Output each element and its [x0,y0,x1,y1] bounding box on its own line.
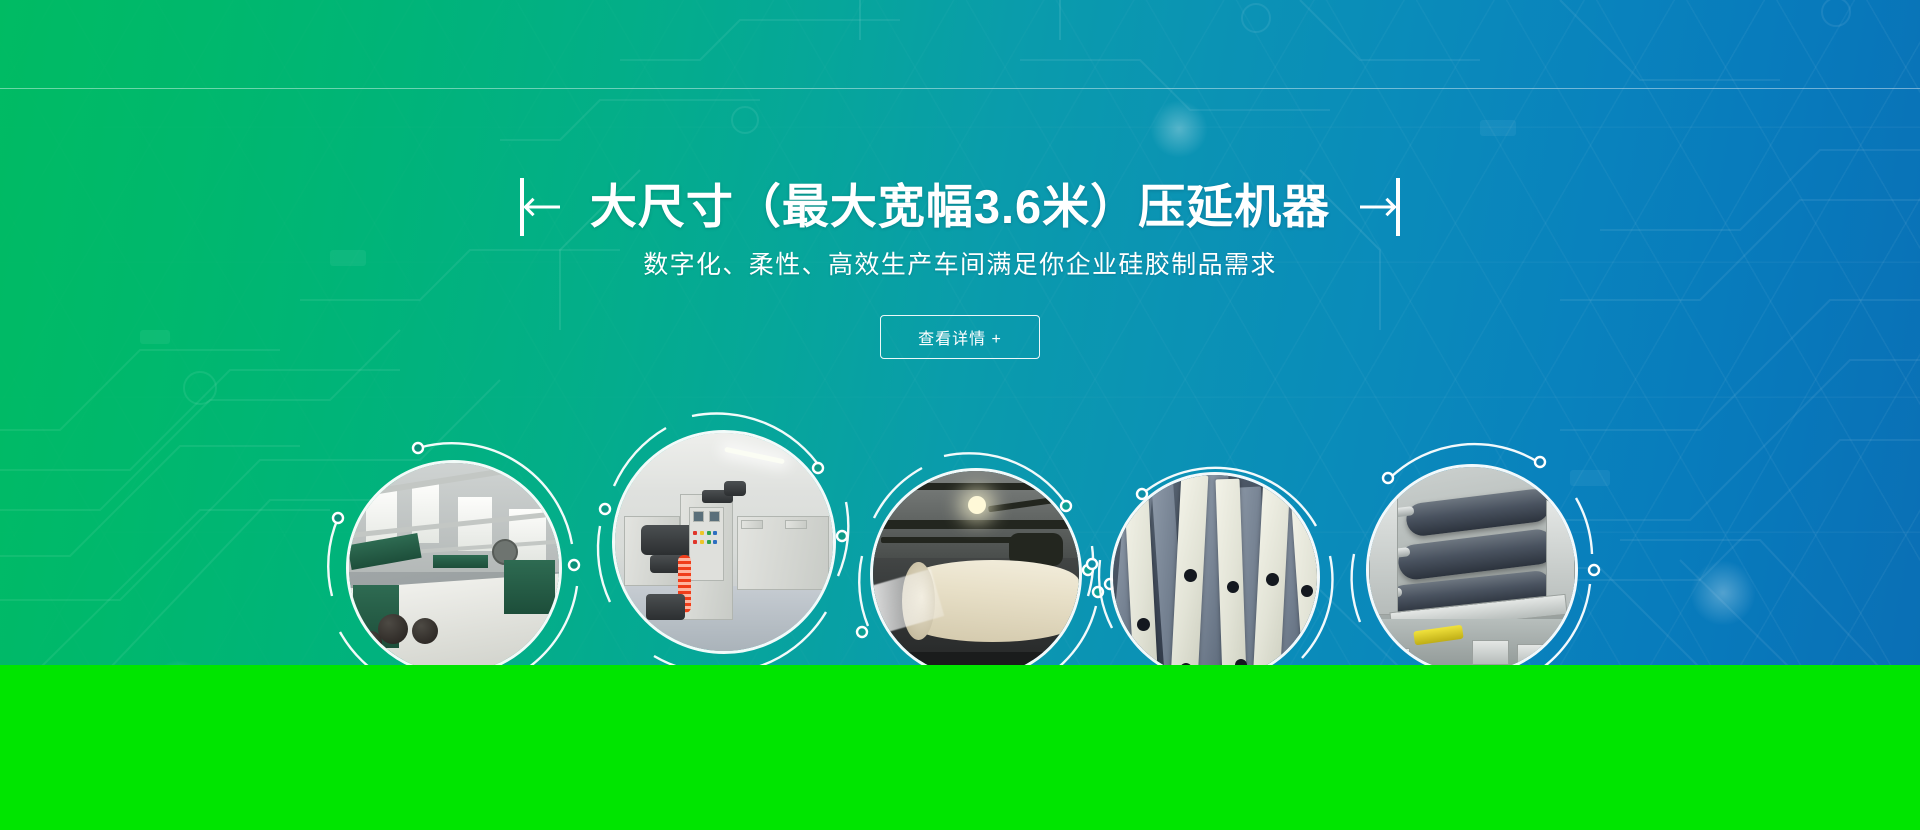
cleanroom-calender-photo [612,430,836,654]
gallery-item-3[interactable] [848,446,1104,668]
fabric-roll-photo [870,468,1082,668]
gallery-item-1[interactable] [322,436,586,668]
calender-rollers-photo [1366,464,1578,668]
chroma-key-band [0,665,1920,830]
gallery-item-2[interactable] [588,406,860,668]
silicone-strips-photo [1110,472,1320,668]
banner-stage: 大尺寸（最大宽幅3.6米）压延机器 数字化、柔性、高效生产车间满足你企业硅胶制品… [0,0,1920,830]
gallery-item-5[interactable] [1344,442,1600,668]
calender-line-photo [346,460,562,668]
circle-gallery [0,0,1920,668]
gallery-item-4[interactable] [1090,452,1340,668]
hero-banner: 大尺寸（最大宽幅3.6米）压延机器 数字化、柔性、高效生产车间满足你企业硅胶制品… [0,0,1920,668]
